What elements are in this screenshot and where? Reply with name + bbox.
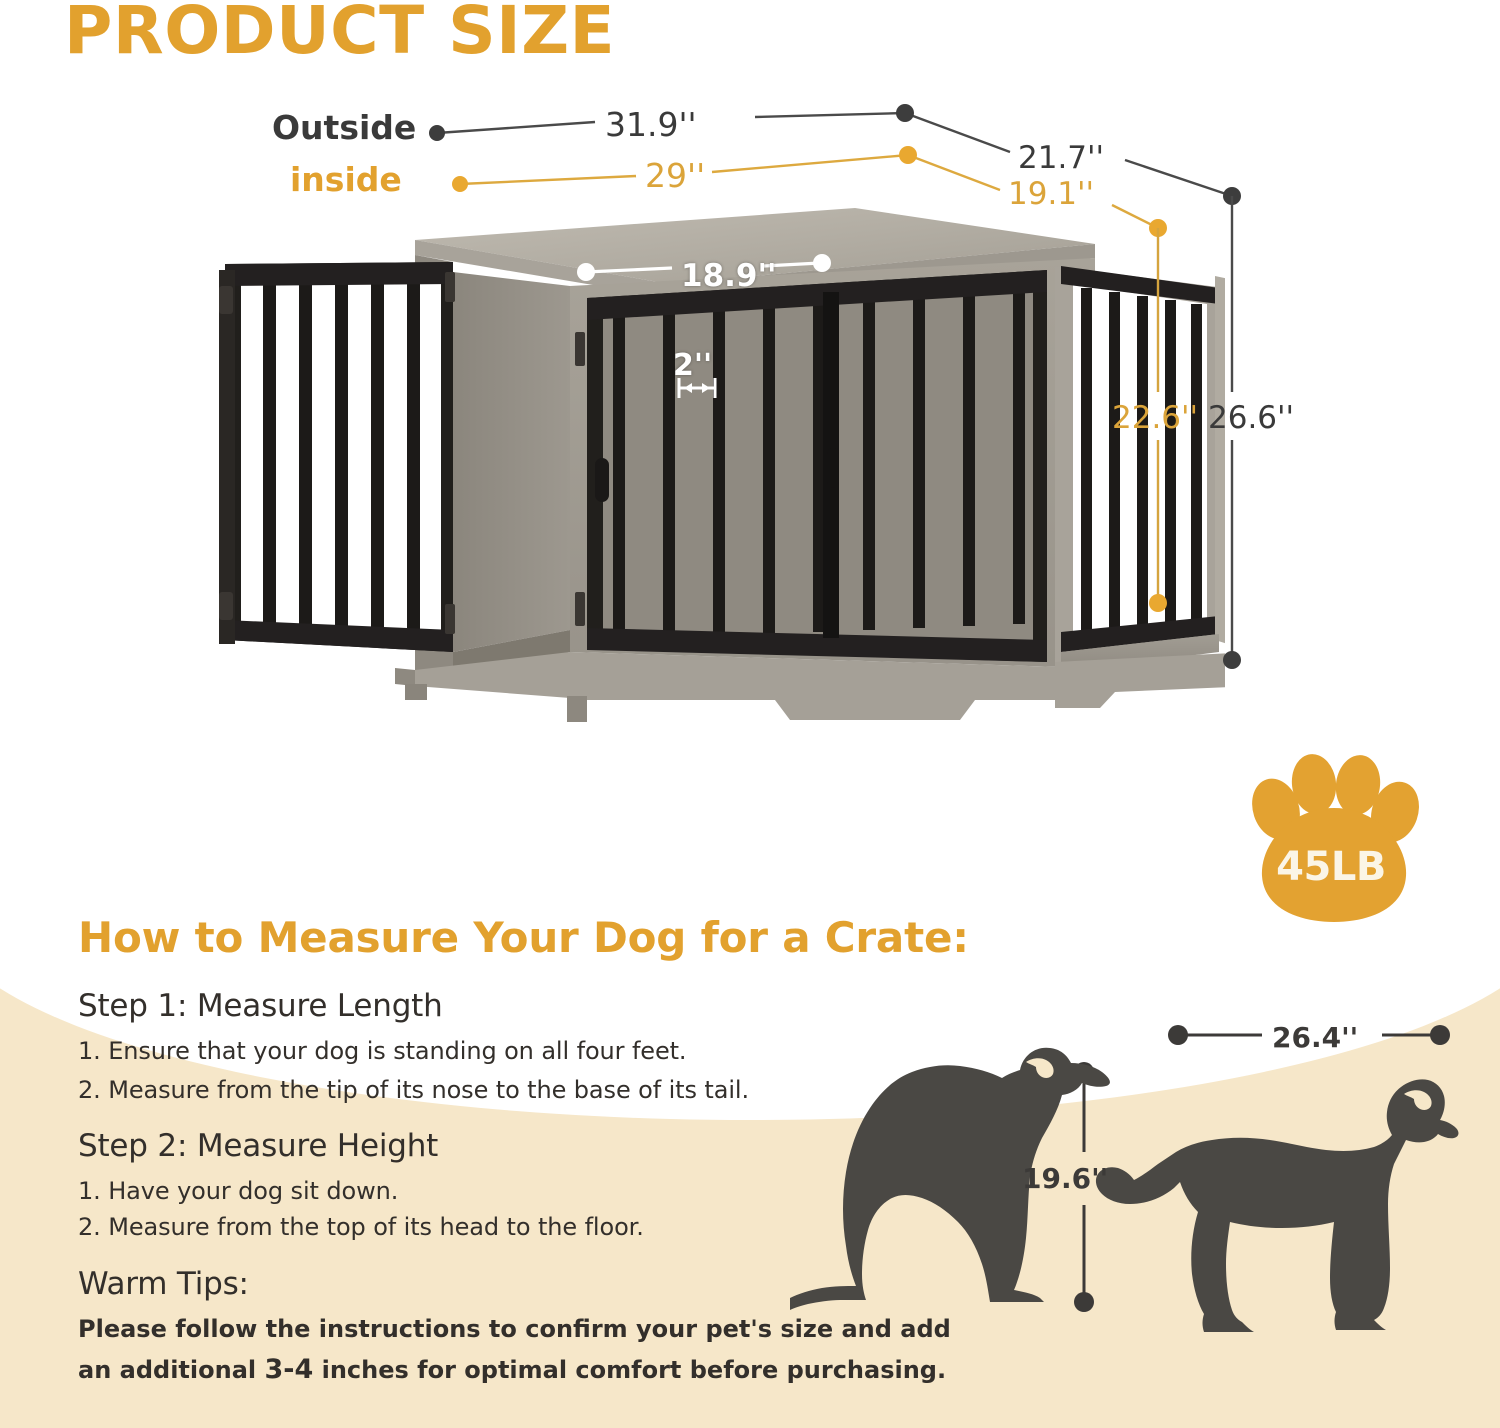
paw-print-icon bbox=[1238, 752, 1424, 924]
step-1-title: Step 1: Measure Length bbox=[78, 988, 443, 1024]
dim-outside-depth: 21.7'' bbox=[1018, 140, 1104, 176]
legend-inside-label: inside bbox=[290, 160, 402, 199]
warm-tips-line-2: an additional 3-4 inches for optimal com… bbox=[78, 1354, 946, 1385]
weight-badge-label: 45LB bbox=[1238, 844, 1424, 890]
step-1-line-2: 2. Measure from the tip of its nose to t… bbox=[78, 1076, 749, 1104]
dim-bar-spacing: 2'' bbox=[673, 348, 712, 383]
dim-outside-width: 31.9'' bbox=[605, 105, 697, 144]
warm-tips-line-2-pre: an additional bbox=[78, 1356, 264, 1384]
step-2-title: Step 2: Measure Height bbox=[78, 1128, 438, 1164]
dim-inside-depth: 19.1'' bbox=[1008, 176, 1094, 212]
dim-outside-height: 26.6'' bbox=[1208, 400, 1294, 436]
page-title: PRODUCT SIZE bbox=[64, 0, 615, 69]
warm-tips-emphasis: 3-4 bbox=[264, 1354, 313, 1385]
step-2-line-1: 1. Have your dog sit down. bbox=[78, 1177, 398, 1205]
guide-heading: How to Measure Your Dog for a Crate: bbox=[78, 913, 969, 962]
dim-inside-height: 22.6'' bbox=[1112, 400, 1198, 436]
infographic-canvas: PRODUCT SIZE bbox=[0, 0, 1500, 1428]
step-2-line-2: 2. Measure from the top of its head to t… bbox=[78, 1213, 644, 1241]
step-1-line-1: 1. Ensure that your dog is standing on a… bbox=[78, 1037, 686, 1065]
dog-height-label: 19.6'' bbox=[1022, 1162, 1108, 1195]
warm-tips-line-2-post: inches for optimal comfort before purcha… bbox=[313, 1356, 946, 1384]
dog-length-label: 26.4'' bbox=[1272, 1021, 1358, 1054]
legend-outside-label: Outside bbox=[272, 108, 416, 147]
weight-badge: 45LB bbox=[1238, 752, 1424, 924]
dim-inside-width: 29'' bbox=[645, 156, 705, 195]
warm-tips-line-1: Please follow the instructions to confir… bbox=[78, 1315, 951, 1343]
dim-door-width: 18.9'' bbox=[681, 258, 776, 294]
warm-tips-title: Warm Tips: bbox=[78, 1266, 249, 1302]
